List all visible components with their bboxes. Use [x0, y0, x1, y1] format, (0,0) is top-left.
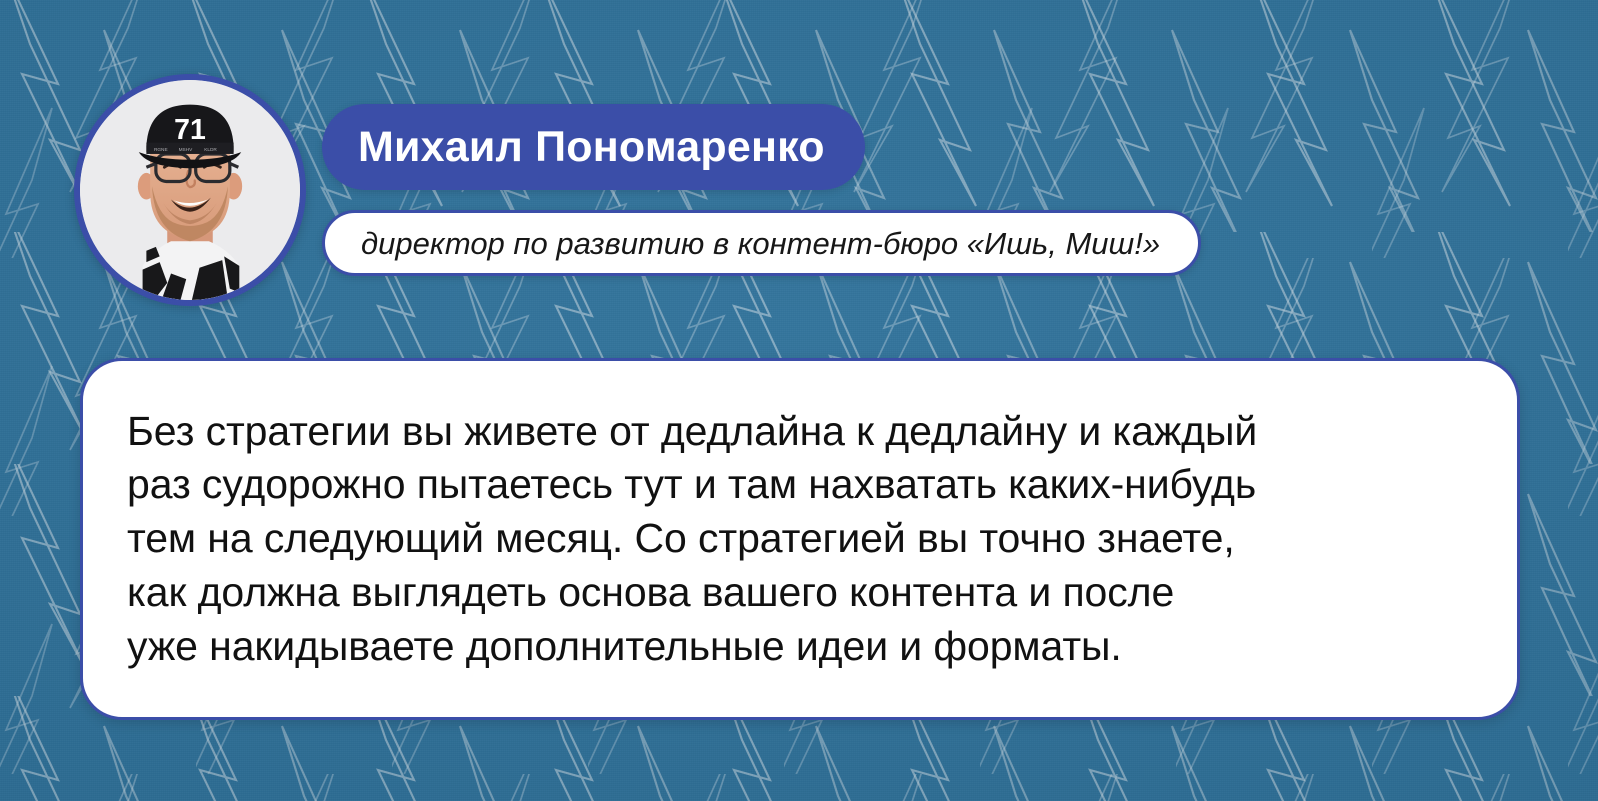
quote-line: как должна выглядеть основа вашего конте… [127, 566, 1471, 620]
svg-text:71: 71 [174, 114, 206, 146]
speaker-role: директор по развитию в контент-бюро «Ишь… [361, 228, 1160, 259]
svg-text:MSHV: MSHV [179, 147, 194, 153]
svg-text:KLDR: KLDR [204, 147, 217, 153]
quote-card-canvas: RGNE MSHV KLDR 71 Михаил Пономаренко дир… [0, 0, 1598, 801]
speaker-name: Михаил Пономаренко [358, 126, 825, 169]
avatar: RGNE MSHV KLDR 71 [74, 74, 306, 306]
svg-text:RGNE: RGNE [154, 147, 168, 153]
quote-text: Без стратегии вы живете от дедлайна к де… [127, 405, 1471, 674]
speaker-name-pill: Михаил Пономаренко [322, 104, 865, 190]
quote-line: тем на следующий месяц. Со стратегией вы… [127, 512, 1471, 566]
quote-line: уже накидываете дополнительные идеи и фо… [127, 620, 1471, 674]
speaker-role-pill: директор по развитию в контент-бюро «Ишь… [322, 210, 1201, 276]
quote-line: Без стратегии вы живете от дедлайна к де… [127, 405, 1471, 459]
quote-card: Без стратегии вы живете от дедлайна к де… [80, 358, 1520, 720]
quote-line: раз судорожно пытаетесь тут и там нахват… [127, 458, 1471, 512]
